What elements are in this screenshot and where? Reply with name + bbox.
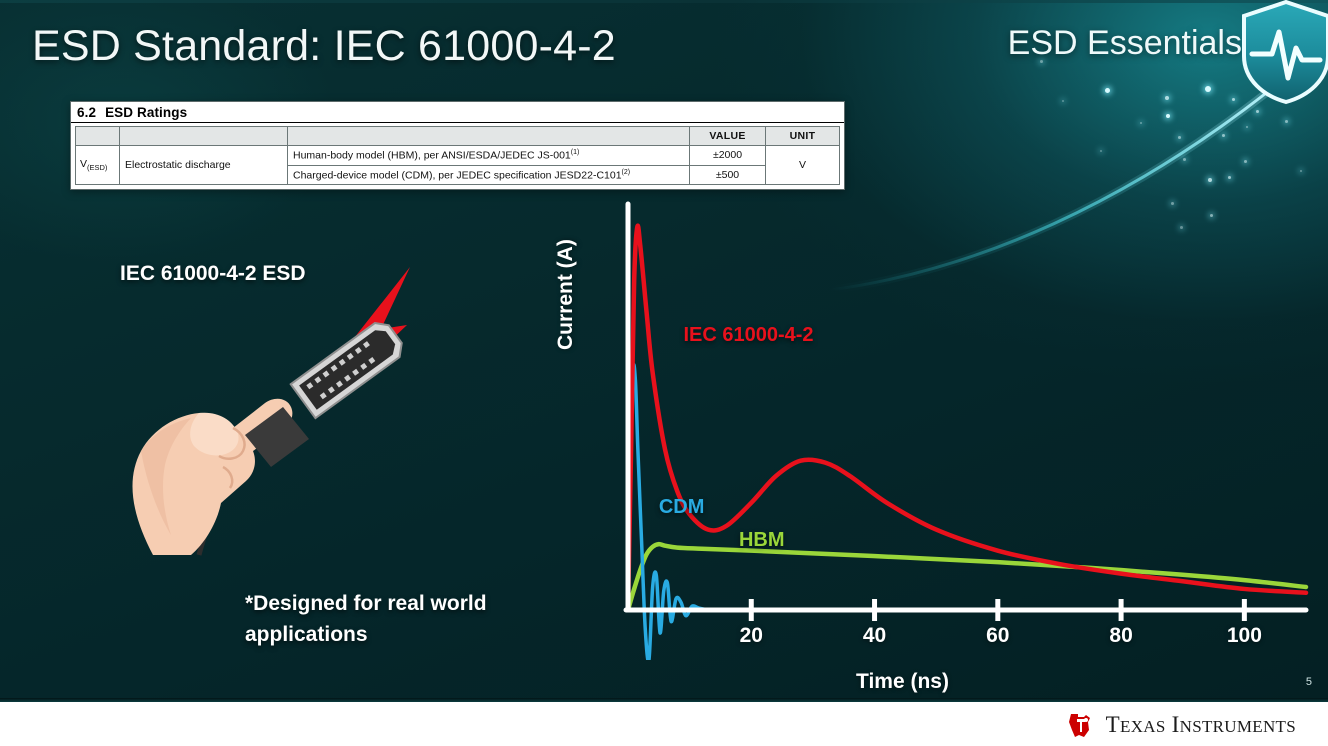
top-edge-line — [0, 0, 1328, 3]
x-tick-label: 40 — [863, 624, 886, 648]
x-tick-label: 20 — [740, 624, 763, 648]
slide-background: ESD Standard: IEC 61000-4-2 ESD Essentia… — [0, 0, 1328, 702]
esd-waveform-chart: Current (A) Time (ns) 20406080100 IEC 61… — [556, 200, 1316, 700]
texas-instruments-logo: TEXAS INSTRUMENTS — [1065, 710, 1296, 740]
x-tick-label: 60 — [986, 624, 1009, 648]
cell-symbol: V(ESD) — [76, 146, 120, 185]
series-label-iec-61000-4-2: IEC 61000-4-2 — [683, 324, 813, 347]
illustration-footnote: *Designed for real world applications — [245, 588, 575, 650]
hdmi-connector — [291, 317, 408, 418]
esd-ratings-table: VALUE UNIT V(ESD) Electrostatic discharg… — [75, 126, 840, 185]
ti-texas-shape-icon — [1065, 710, 1095, 740]
cell-value-cdm: ±500 — [690, 165, 766, 185]
table-section-number: 6.2 — [77, 105, 96, 120]
slide-footer: TEXAS INSTRUMENTS — [0, 702, 1328, 746]
symbol-main: V — [80, 158, 87, 170]
desc-hbm-text: Human-body model (HBM), per ANSI/ESDA/JE… — [293, 150, 571, 162]
th-symbol — [76, 127, 120, 146]
desc-hbm-footnote: (1) — [571, 149, 580, 156]
brand-label: ESD Essentials — [1008, 24, 1242, 63]
desc-cdm-footnote: (2) — [622, 169, 631, 176]
page-number: 5 — [1306, 676, 1312, 688]
desc-cdm-text: Charged-device model (CDM), per JEDEC sp… — [293, 169, 622, 181]
series-hbm — [628, 544, 1306, 610]
ti-word-t: T — [1106, 712, 1120, 737]
cell-parameter: Electrostatic discharge — [120, 146, 288, 185]
ti-word-nstruments: NSTRUMENTS — [1180, 717, 1296, 736]
ti-word-i: I — [1172, 712, 1180, 737]
shield-pulse-icon — [1238, 0, 1328, 106]
table-header-row: VALUE UNIT — [76, 127, 840, 146]
cell-description-cdm: Charged-device model (CDM), per JEDEC sp… — [288, 165, 690, 185]
x-tick-label: 80 — [1109, 624, 1132, 648]
cell-value-hbm: ±2000 — [690, 146, 766, 166]
table-row: V(ESD) Electrostatic discharge Human-bod… — [76, 146, 840, 166]
th-parameter — [120, 127, 288, 146]
table-section-title: ESD Ratings — [105, 105, 187, 120]
esd-ratings-table-card: 6.2ESD Ratings VALUE UNIT V(ESD) Electr — [70, 101, 845, 190]
series-label-hbm: HBM — [739, 529, 785, 552]
chart-plot-area — [556, 200, 1316, 660]
x-tick-label: 100 — [1227, 624, 1262, 648]
th-description — [288, 127, 690, 146]
chart-y-axis-label: Current (A) — [554, 239, 578, 350]
chart-x-axis-label: Time (ns) — [856, 670, 949, 694]
ti-wordmark: TEXAS INSTRUMENTS — [1106, 712, 1296, 738]
table-section-heading: 6.2ESD Ratings — [71, 102, 844, 123]
cell-unit: V — [766, 146, 840, 185]
th-unit: UNIT — [766, 127, 840, 146]
cell-description-hbm: Human-body model (HBM), per ANSI/ESDA/JE… — [288, 146, 690, 166]
series-label-cdm: CDM — [659, 496, 705, 519]
th-value: VALUE — [690, 127, 766, 146]
series-iec-61000-4-2 — [628, 226, 1306, 610]
hand-connector-illustration — [95, 255, 435, 565]
ti-word-exas: EXAS — [1120, 717, 1166, 736]
page-title: ESD Standard: IEC 61000-4-2 — [32, 22, 616, 71]
slide-root: ESD Standard: IEC 61000-4-2 ESD Essentia… — [0, 0, 1328, 746]
symbol-sub: (ESD) — [87, 163, 107, 172]
